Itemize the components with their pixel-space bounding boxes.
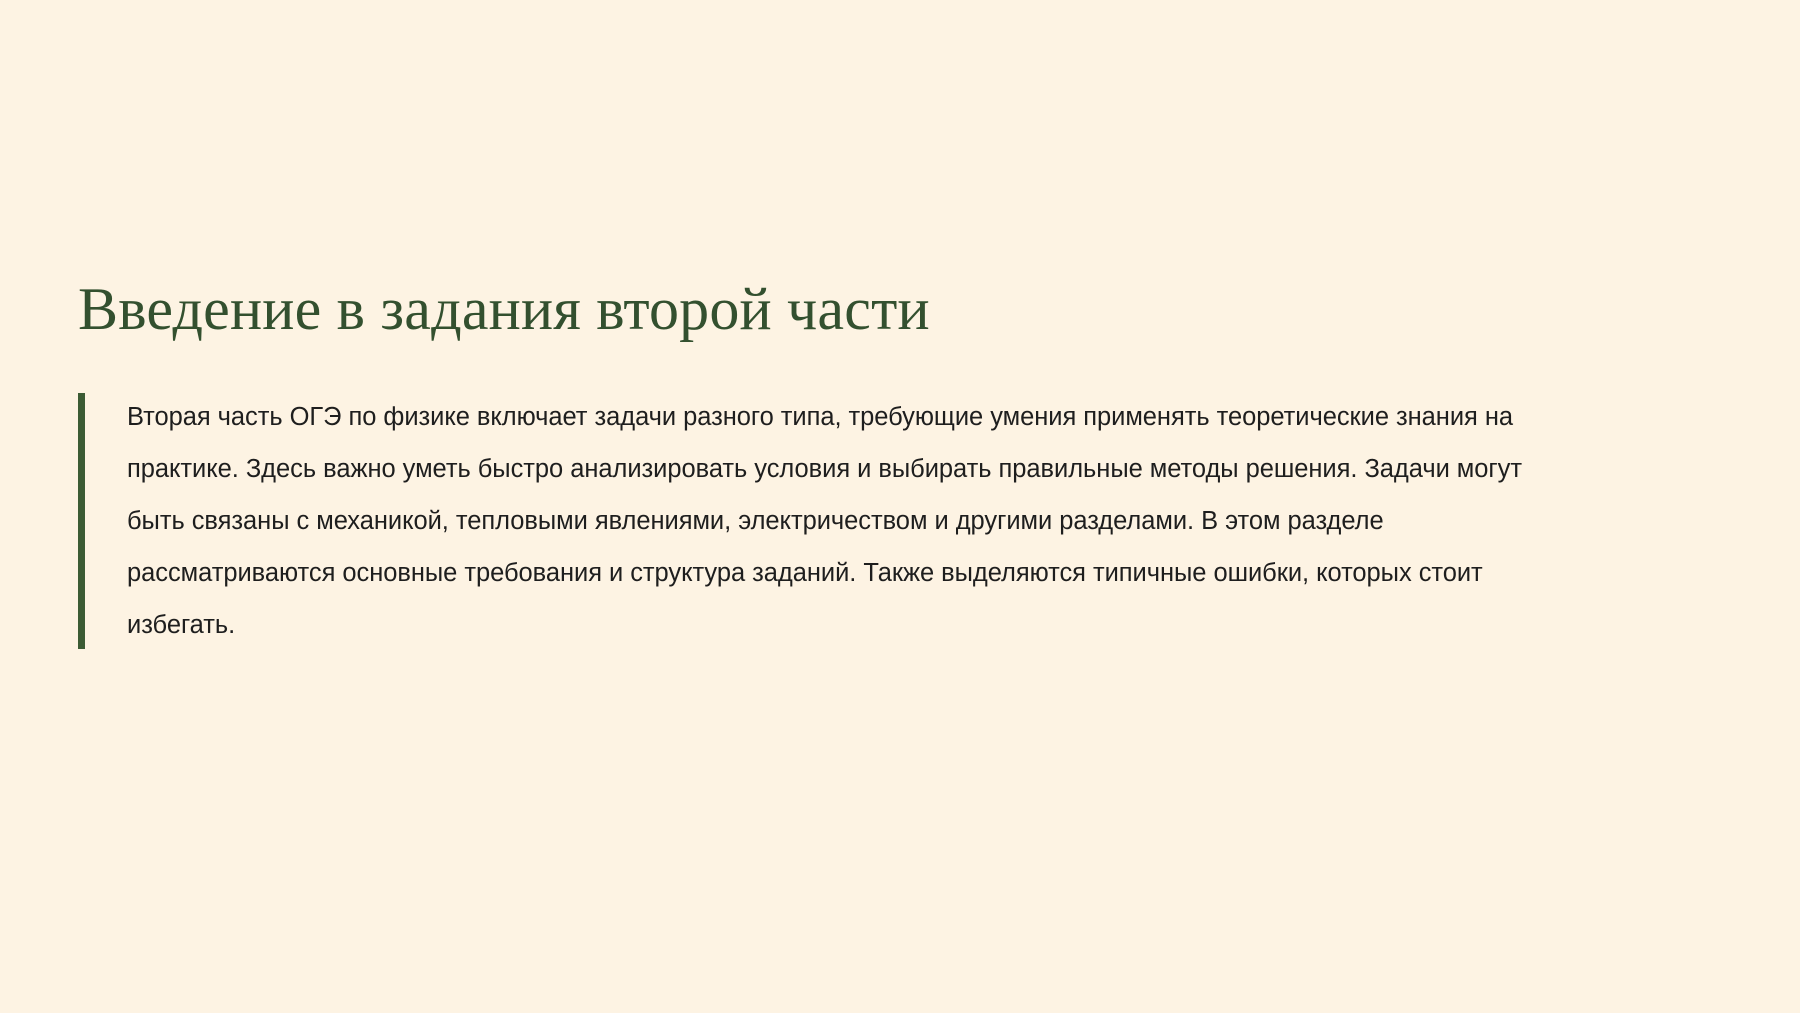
page-title: Введение в задания второй части	[78, 276, 1718, 343]
body-paragraph: Вторая часть ОГЭ по физике включает зада…	[127, 391, 1537, 651]
body-text: Вторая часть ОГЭ по физике включает зада…	[85, 391, 1537, 651]
quote-block: Вторая часть ОГЭ по физике включает зада…	[78, 391, 1718, 651]
accent-bar	[78, 393, 85, 649]
slide-content: Введение в задания второй части Вторая ч…	[78, 276, 1718, 651]
slide-canvas: Введение в задания второй части Вторая ч…	[0, 0, 1800, 1013]
